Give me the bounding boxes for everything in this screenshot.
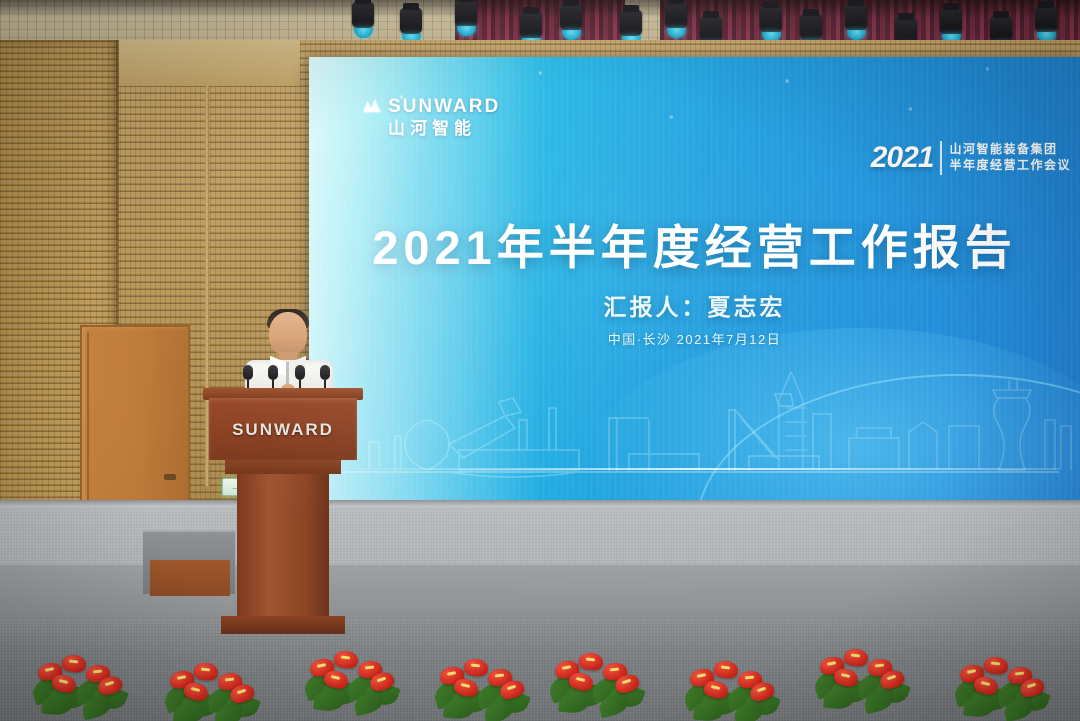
stage-light-body	[455, 0, 477, 26]
stage-light-yoke	[668, 0, 684, 4]
stage-light	[845, 4, 867, 40]
stage-light-yoke	[563, 0, 579, 6]
door-handle[interactable]	[164, 474, 176, 480]
microphone-head	[320, 365, 330, 380]
badge-year: 2021	[871, 141, 934, 175]
stage-light-yoke	[898, 13, 914, 20]
stage-light-body	[940, 8, 962, 34]
stage-light-yoke	[703, 11, 719, 18]
podium-front-panel: SUNWARD	[209, 398, 357, 460]
stage-light-yoke	[993, 11, 1009, 18]
led-presentation-screen: SUNWARD 山河智能 2021 山河智能装备集团 半年度经营工作会议 202…	[309, 57, 1080, 508]
stage-light-lens	[667, 28, 686, 38]
stage-light	[560, 4, 582, 40]
stage-light-yoke	[1038, 1, 1054, 8]
stage-light	[940, 8, 962, 44]
microphone-head	[243, 365, 253, 380]
stage-light	[665, 2, 687, 38]
microphone-head	[268, 365, 278, 380]
stage-light-yoke	[803, 9, 819, 16]
podium-midsection	[225, 460, 341, 474]
stage-light-lens	[354, 28, 373, 38]
speaker-head	[269, 312, 307, 356]
stage-light-body	[760, 6, 782, 32]
stage-light-lens	[562, 30, 581, 40]
stage-light-lens	[457, 26, 476, 36]
badge-divider	[940, 141, 942, 175]
podium-base	[221, 616, 345, 634]
slide-event-badge: 2021 山河智能装备集团 半年度经营工作会议	[871, 141, 1071, 175]
foreground-carpet	[0, 618, 1080, 721]
stage-light-body	[352, 2, 374, 28]
stage-light-body	[845, 4, 867, 30]
stage-light	[760, 6, 782, 42]
conference-stage-photograph: →	[0, 0, 1080, 721]
stage-light	[1035, 6, 1057, 42]
stage-light-yoke	[458, 0, 474, 2]
stage-light-lens	[847, 30, 866, 40]
podium-brand-label: SUNWARD	[209, 420, 357, 440]
stage-light	[400, 8, 422, 44]
badge-line-2: 半年度经营工作会议	[949, 159, 1071, 173]
stage-light-body	[700, 16, 722, 42]
stage-light-body	[800, 14, 822, 40]
stage-light-yoke	[523, 7, 539, 14]
stage-light-yoke	[355, 0, 371, 4]
speaking-podium: SUNWARD	[203, 388, 363, 640]
stage-light-yoke	[848, 0, 864, 6]
stage-light	[455, 0, 477, 36]
stage-light-body	[400, 8, 422, 34]
screen-base-edge	[0, 500, 1080, 507]
stage-light-yoke	[403, 3, 419, 10]
stage-light-body	[620, 10, 642, 36]
microphone-head	[295, 365, 305, 380]
stage-light	[352, 2, 374, 38]
stage-light-yoke	[623, 5, 639, 12]
podium-column	[237, 474, 329, 620]
stage-light-body	[520, 12, 542, 38]
foreground-carpet-texture	[0, 618, 1080, 721]
stage-light-yoke	[943, 3, 959, 10]
badge-line-1: 山河智能装备集团	[949, 143, 1071, 157]
stage-light-yoke	[763, 1, 779, 8]
stage-light-body	[560, 4, 582, 30]
stage-light-body	[1035, 6, 1057, 32]
stage-light-body	[665, 2, 687, 28]
stage-light-body	[990, 16, 1012, 42]
